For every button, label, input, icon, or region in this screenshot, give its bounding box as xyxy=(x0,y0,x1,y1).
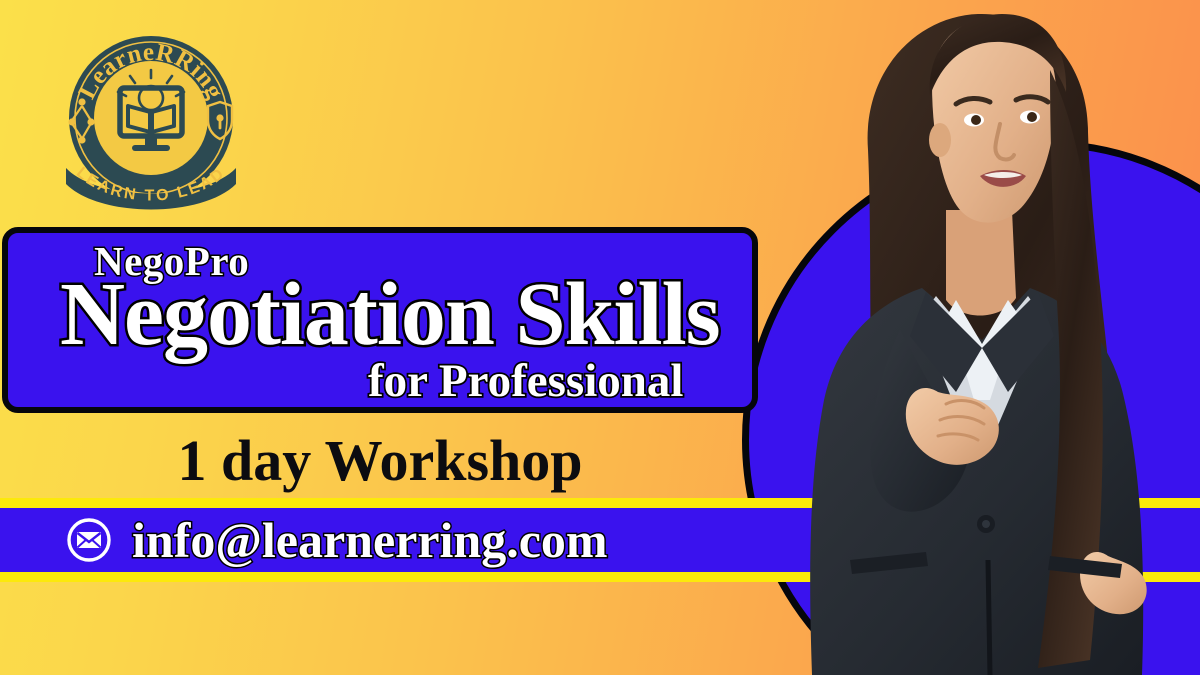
page-title: Negotiation Skills xyxy=(60,267,720,363)
envelope-icon xyxy=(66,517,112,563)
contact-content: info@learnerring.com xyxy=(66,508,608,572)
workshop-duration-text: 1 day Workshop xyxy=(0,428,760,494)
subtitle-text: for Professional xyxy=(368,355,683,407)
contact-email[interactable]: info@learnerring.com xyxy=(132,512,608,568)
brand-logo: LearneRRing xyxy=(56,26,246,216)
title-block: NegoPro Negotiation Skills for Professio… xyxy=(2,227,758,413)
promo-banner: LearneRRing xyxy=(0,0,1200,675)
presenter-photo xyxy=(750,0,1200,675)
